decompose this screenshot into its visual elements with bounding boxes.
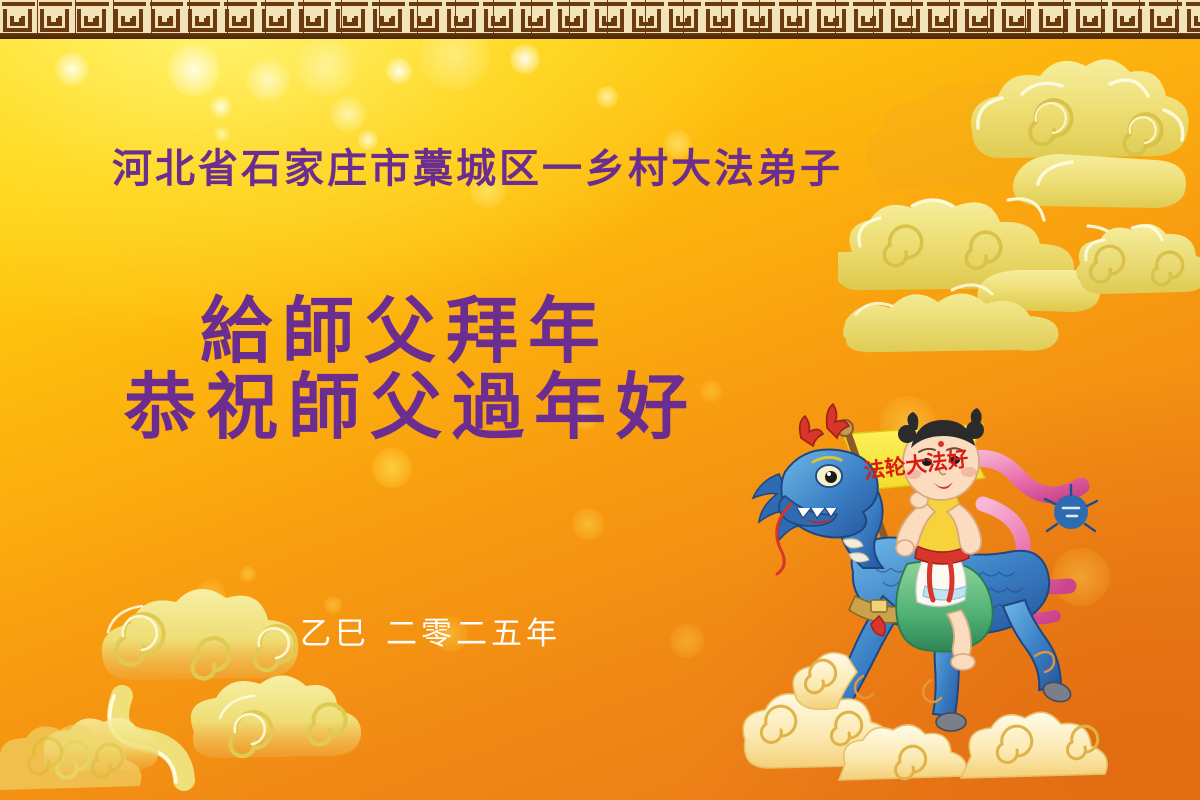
meander-unit	[518, 0, 555, 38]
bokeh-circle	[372, 448, 412, 488]
cloud-ghost-top-right	[832, 52, 1112, 252]
page-title: 河北省石家庄市藁城区一乡村大法弟子	[112, 136, 843, 194]
meander-unit	[740, 0, 777, 38]
cloud-mid-right	[838, 178, 1148, 318]
new-year-greeting-card: 法轮大法好 河北省石家庄市藁城区一乡村大法弟子 給師父拜年 恭祝師父過年好 乙巳…	[0, 0, 1200, 800]
date-cyclical: 乙巳	[300, 616, 370, 652]
bokeh-circle	[296, 36, 356, 96]
bokeh-circle	[168, 44, 220, 96]
bokeh-circle	[330, 96, 366, 132]
bokeh-circle	[386, 58, 412, 84]
bokeh-circle	[196, 580, 226, 610]
meander-unit	[1147, 0, 1184, 38]
meander-pattern-glyphs	[0, 0, 1200, 38]
cloud-small-right	[1068, 212, 1200, 306]
bokeh-circle	[510, 44, 540, 74]
bokeh-circle	[700, 380, 722, 402]
border-underline	[0, 34, 1200, 39]
meander-unit	[1110, 0, 1147, 38]
bokeh-circle	[596, 86, 618, 108]
cloud-bottom-edge	[0, 712, 210, 800]
meander-unit	[629, 0, 666, 38]
meander-unit	[185, 0, 222, 38]
meander-unit	[555, 0, 592, 38]
meander-unit	[296, 0, 333, 38]
meander-unit	[0, 0, 37, 38]
bokeh-circle	[210, 96, 232, 118]
greeting-line-2: 恭祝師父過年好	[124, 348, 698, 453]
meander-unit	[407, 0, 444, 38]
cloud-upper-right	[952, 58, 1200, 228]
meander-unit	[148, 0, 185, 38]
meander-unit	[851, 0, 888, 38]
bokeh-circle	[670, 624, 704, 658]
meander-unit	[74, 0, 111, 38]
meander-unit	[814, 0, 851, 38]
bokeh-circle	[572, 508, 604, 540]
date-text: 乙巳二零二五年	[300, 608, 561, 653]
meander-unit	[370, 0, 407, 38]
cloud-streamer-right	[840, 276, 1100, 366]
bokeh-circle	[246, 58, 290, 102]
meander-unit	[962, 0, 999, 38]
meander-unit	[1184, 0, 1200, 38]
meander-unit	[777, 0, 814, 38]
bokeh-circle	[55, 52, 89, 86]
bokeh-circle	[240, 566, 256, 582]
meander-unit	[1073, 0, 1110, 38]
meander-unit	[666, 0, 703, 38]
meander-unit	[925, 0, 962, 38]
meander-unit	[1036, 0, 1073, 38]
date-year: 二零二五年	[386, 616, 561, 652]
meander-unit	[999, 0, 1036, 38]
meander-unit	[333, 0, 370, 38]
meander-unit	[222, 0, 259, 38]
meander-unit	[481, 0, 518, 38]
meander-unit	[592, 0, 629, 38]
meander-unit	[444, 0, 481, 38]
meander-unit	[703, 0, 740, 38]
meander-unit	[111, 0, 148, 38]
decorative-border-top	[0, 0, 1200, 38]
meander-unit	[37, 0, 74, 38]
meander-unit	[888, 0, 925, 38]
meander-unit	[259, 0, 296, 38]
